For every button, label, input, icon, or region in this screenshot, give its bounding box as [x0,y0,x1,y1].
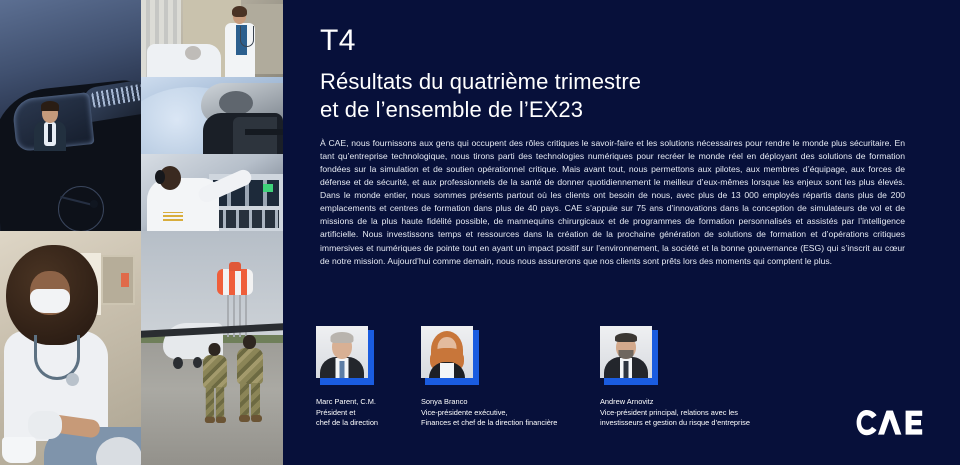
water-tower-tank-shape [217,269,253,295]
portrait-marc-parent [316,326,368,378]
hospital-bed-shape [147,44,221,77]
executive-item-andrew-arnovitz: Andrew Arnovitz Vice-président principal… [600,326,750,429]
portrait-andrew-arnovitz [600,326,652,378]
avatar [316,326,374,385]
soldier-boot-shape [251,415,262,422]
bedside-cup-shape [2,437,36,463]
soldier-head-shape [209,343,221,356]
soldier-leg-shape [206,387,214,418]
photo-nurse-patient-care [0,231,141,465]
photo-military-airfield [141,231,283,465]
soldier-boot-shape [239,415,250,422]
soldier-leg-shape [216,387,224,418]
avatar [600,326,658,385]
soldier-leg-shape [240,383,249,417]
nurse-glove-shape [28,411,62,439]
water-tower-cap-shape [229,262,241,271]
portrait-tie-shape [624,361,629,378]
aircraft-wheel-shape [193,357,202,368]
jet-nose-shadow-shape [219,91,253,115]
executive-item-sonya-branco: Sonya Branco Vice-présidente exécutive, … [421,326,557,429]
canopy-rail-shape [245,129,283,135]
stethoscope-bell-shape [66,373,79,386]
aircraft-wheel-shape [173,357,183,369]
content-panel: T4 Résultats du quatrième trimestre et d… [283,0,960,465]
executive-caption: Sonya Branco Vice-présidente exécutive, … [421,397,557,429]
soldier-boot-shape [216,417,226,423]
executive-caption: Marc Parent, C.M. Président et chef de l… [316,397,378,429]
portrait-hair-shape [615,333,637,342]
shelf-bottle-shape [121,273,129,287]
face-mask-icon [30,289,70,313]
portrait-beard-shape [619,350,634,359]
body-paragraph: À CAE, nous fournissons aux gens qui occ… [320,137,905,268]
pilot-epaulette-shape [163,212,183,221]
ejection-seat-shape [233,117,277,154]
pilot-tie-shape [48,124,52,142]
soldier-uniform-shape [203,355,227,388]
flight-deck-lower-displays-shape [213,210,279,228]
portrait-tie-shape [340,361,345,378]
portrait-collar-shape [440,363,454,378]
display-green-indicator [263,184,273,192]
stethoscope-icon [240,26,254,47]
patient-head-shape [185,46,201,60]
soldier-boot-shape [205,417,215,423]
executive-item-marc-parent: Marc Parent, C.M. Président et chef de l… [316,326,378,429]
quarter-label: T4 [320,26,356,56]
fuselage-marking-shape [58,186,104,231]
page-title: Résultats du quatrième trimestre et de l… [320,68,641,124]
fuselage-hub-shape [90,200,98,208]
photo-fighter-jet-canopy [141,77,283,154]
headset-icon [155,170,165,184]
photo-collage [0,0,283,465]
photo-flight-deck-training [141,154,283,231]
room-shelf-shape [101,255,135,305]
pilot-hair-shape [41,101,59,111]
slide-root: T4 Résultats du quatrième trimestre et d… [0,0,960,465]
portrait-hair-shape [331,332,354,343]
photo-healthcare-bedside [141,0,283,77]
soldier-uniform-shape [237,348,263,384]
avatar [421,326,479,385]
portrait-sonya-branco [421,326,473,378]
soldier-head-shape [243,335,256,349]
cae-logo [856,409,938,439]
photo-pilot-cockpit [0,0,141,231]
soldier-leg-shape [251,383,260,417]
executive-caption: Andrew Arnovitz Vice-président principal… [600,397,750,429]
doctor-hair-shape [232,6,247,17]
